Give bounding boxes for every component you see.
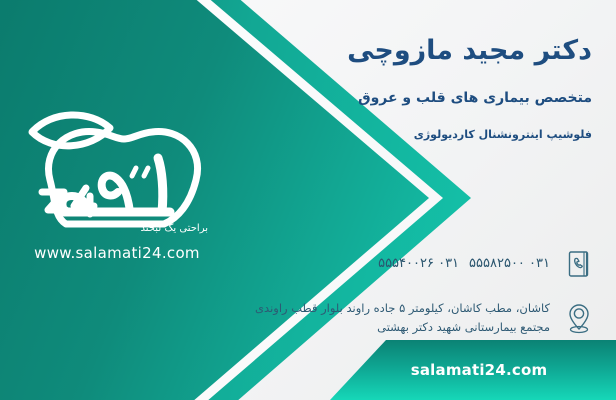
address-line-1: کاشان، مطب کاشان، کیلومتر ۵ جاده راوند ب… [222,299,550,318]
logo: براحتی یک لبخند www.salamati24.com [12,92,222,277]
phone-numbers[interactable]: ۰۳۱ ۵۵۵۸۲۵۰۰۰۳۱ ۵۵۵۴۰۰۲۶ [216,253,550,274]
logo-website[interactable]: www.salamati24.com [12,244,222,262]
address-text: کاشان، مطب کاشان، کیلومتر ۵ جاده راوند ب… [216,299,550,337]
phone-secondary: ۰۳۱ ۵۵۵۴۰۰۲۶ [378,256,459,271]
address-line-2: مجتمع بیمارستانی شهید دکتر بهشتی [222,318,550,337]
logo-tagline: براحتی یک لبخند [141,223,209,234]
doctor-name: دکتر مجید مازوچی [232,34,592,68]
location-pin-icon [562,298,596,338]
contact-block: ۰۳۱ ۵۵۵۸۲۵۰۰۰۳۱ ۵۵۵۴۰۰۲۶ کاشان، مطب کاشا… [216,244,596,352]
contact-row-phone: ۰۳۱ ۵۵۵۸۲۵۰۰۰۳۱ ۵۵۵۴۰۰۲۶ [216,244,596,284]
phone-primary: ۰۳۱ ۵۵۵۸۲۵۰۰ [469,256,550,271]
phone-book-icon [562,244,596,284]
business-card: براحتی یک لبخند www.salamati24.com دکتر … [0,0,616,400]
doctor-fellowship: فلوشیپ اینترونشنال کاردیولوژی [232,128,592,141]
salamati-apple-logo-icon [12,92,222,242]
footer-website[interactable]: salamati24.com [399,361,548,379]
doctor-specialty: متخصص بیماری های قلب و عروق [232,90,592,106]
contact-row-address: کاشان، مطب کاشان، کیلومتر ۵ جاده راوند ب… [216,298,596,338]
identity-block: دکتر مجید مازوچی متخصص بیماری های قلب و … [232,34,592,141]
